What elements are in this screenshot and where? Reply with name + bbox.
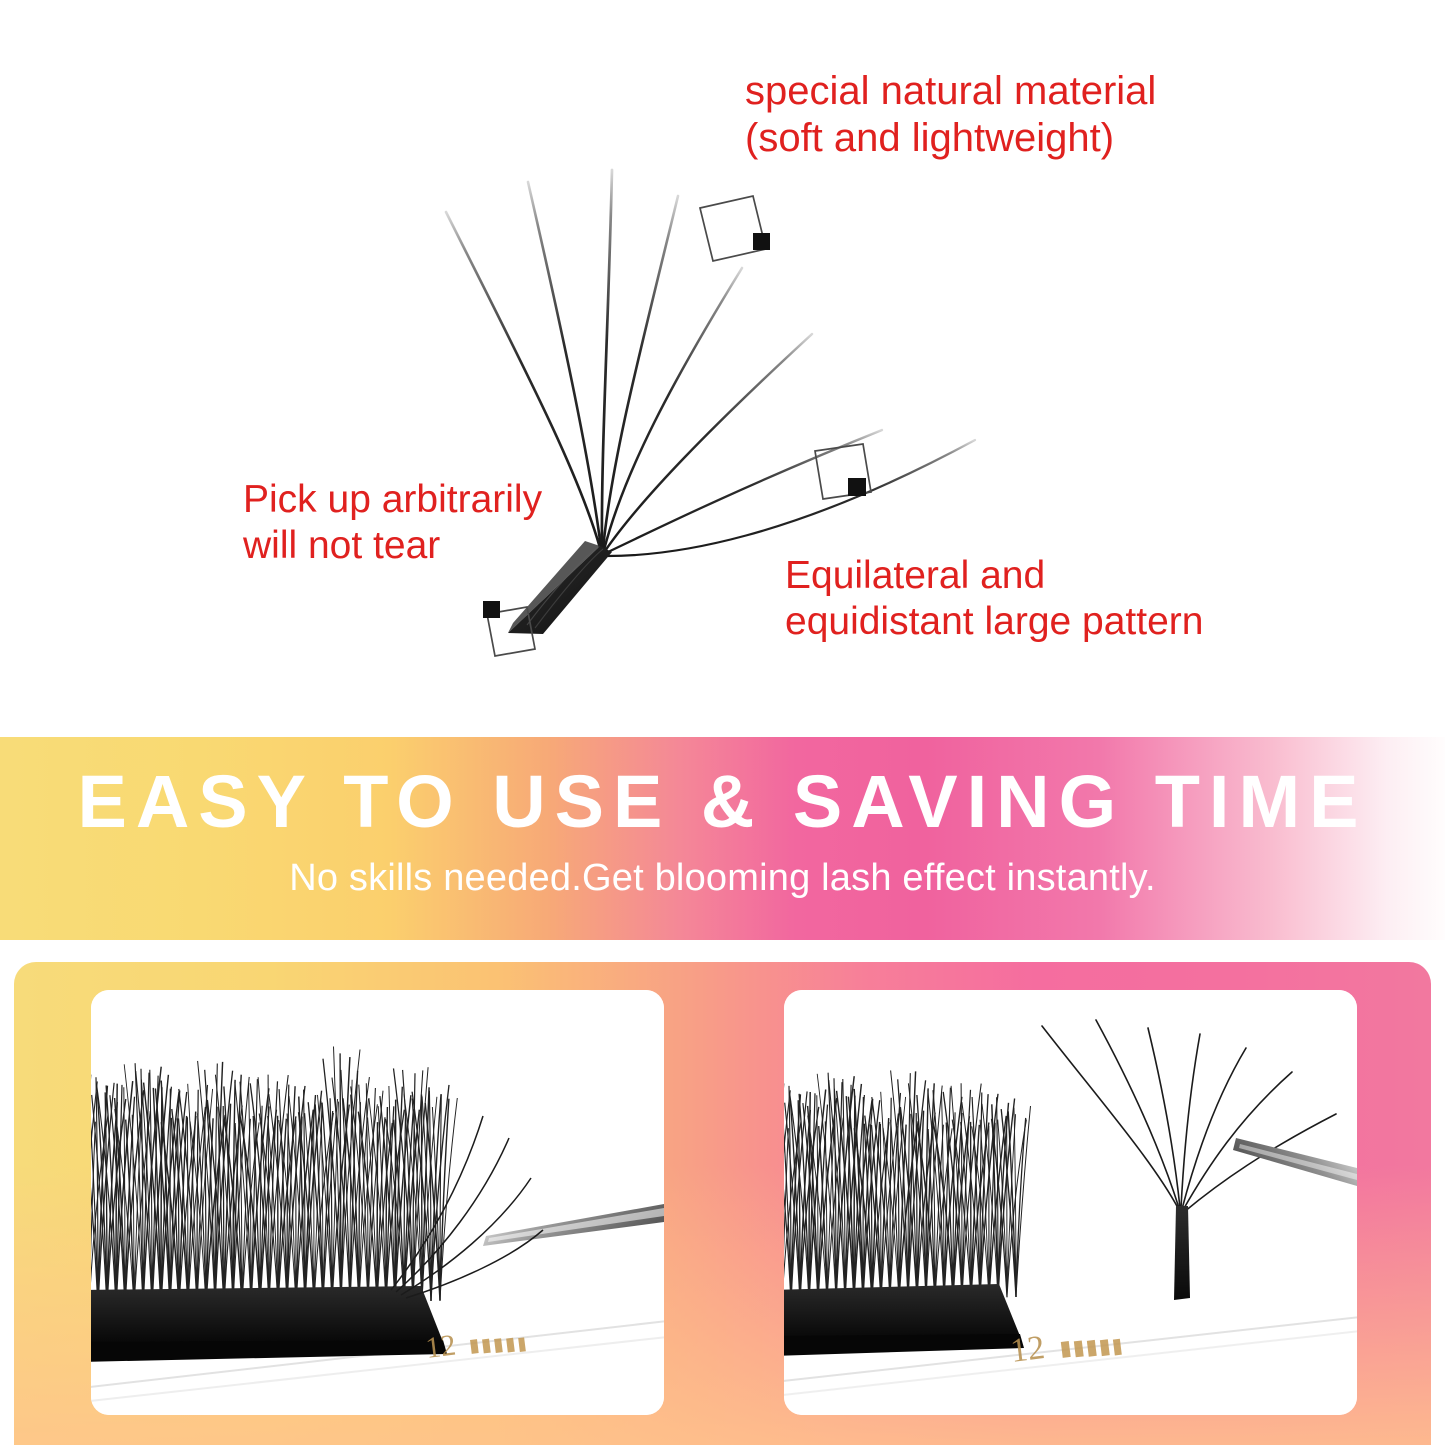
photo-card-single-fan: 12 bbox=[784, 990, 1357, 1415]
svg-text:12: 12 bbox=[424, 1329, 458, 1365]
photo-card-lash-tray: 12 bbox=[91, 990, 664, 1415]
single-fan-photo: 12 bbox=[784, 990, 1357, 1415]
callout-label-pickup: Pick up arbitrarily will not tear bbox=[243, 477, 542, 568]
svg-text:12: 12 bbox=[1008, 1329, 1046, 1370]
banner-title: EASY TO USE & SAVING TIME bbox=[0, 765, 1445, 839]
lash-fan-diagram bbox=[0, 0, 1445, 737]
photos-section: 12 bbox=[0, 940, 1445, 1445]
photos-gradient-panel: 12 bbox=[14, 962, 1431, 1445]
promo-banner: EASY TO USE & SAVING TIME No skills need… bbox=[0, 737, 1445, 940]
lash-tray-photo: 12 bbox=[91, 990, 664, 1415]
callout-label-equilateral: Equilateral and equidistant large patter… bbox=[785, 553, 1203, 644]
diagram-section: special natural material (soft and light… bbox=[0, 0, 1445, 737]
callout-marker-material bbox=[700, 196, 770, 261]
banner-subtitle: No skills needed.Get blooming lash effec… bbox=[0, 857, 1445, 900]
callout-label-material: special natural material (soft and light… bbox=[745, 68, 1156, 162]
callout-marker-equilateral bbox=[815, 444, 871, 499]
